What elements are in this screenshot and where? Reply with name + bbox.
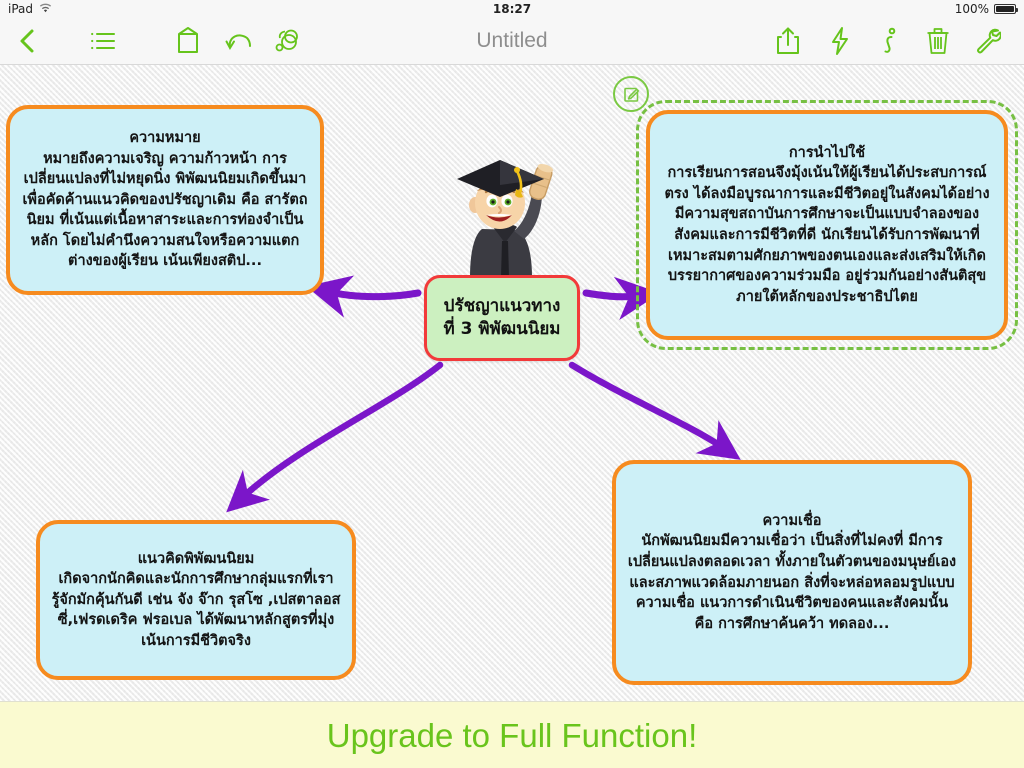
upgrade-banner[interactable]: Upgrade to Full Function! [0,701,1024,768]
mindmap-center-node[interactable]: ปรัชญาแนวทาง ที่ 3 พิพัฒนนิยม [424,275,580,361]
mindmap-canvas[interactable]: ความหมาย หมายถึงความเจริญ ความก้าวหน้า ก… [0,65,1024,701]
upgrade-banner-label: Upgrade to Full Function! [327,717,698,755]
connector-to-belief [572,365,722,447]
graduate-student-icon [448,157,562,283]
theme-button[interactable] [270,26,304,56]
node-body: เกิดจากนักคิดและนักการศึกษากลุ่มแรกที่เร… [50,569,342,651]
connector-to-concept [243,365,440,497]
connector-to-apply [586,293,636,297]
center-node-line1: ปรัชญาแนวทาง [443,295,560,318]
mindmap-node-concept[interactable]: แนวคิดพิพัฒนนิยม เกิดจากนักคิดและนักการศ… [36,520,356,680]
node-title: แนวคิดพิพัฒนนิยม [138,549,255,570]
document-title[interactable]: Untitled [0,18,1024,64]
delete-button[interactable] [921,26,955,56]
edit-pencil-square-icon[interactable] [613,76,649,112]
node-title: ความเชื่อ [762,511,821,532]
mindmap-node-meaning[interactable]: ความหมาย หมายถึงความเจริญ ความก้าวหน้า ก… [6,105,324,295]
node-title: ความหมาย [129,128,200,149]
node-body: หมายถึงความเจริญ ความก้าวหน้า การเปลี่ยน… [20,149,310,272]
export-button[interactable] [171,26,205,56]
connector-to-meaning [330,292,418,297]
back-button[interactable] [10,26,44,56]
node-body: นักพัฒนนิยมมีความเชื่อว่า เป็นสิ่งที่ไม่… [626,531,958,634]
info-button[interactable] [873,26,907,56]
undo-button[interactable] [222,26,256,56]
node-title: การนำไปใช้ [789,143,865,164]
mindmap-app: iPad 18:27 100% Untitled [0,0,1024,768]
outline-button[interactable] [86,26,120,56]
quick-action-button[interactable] [823,26,857,56]
clock-label: 18:27 [0,2,1024,16]
status-bar-right: 100% [955,2,1016,16]
battery-full-icon [994,4,1016,14]
mindmap-node-apply[interactable]: การนำไปใช้ การเรียนการสอนจึงมุ้งเน้นให้ผ… [646,110,1008,340]
node-body: การเรียนการสอนจึงมุ้งเน้นให้ผู้เรียนได้ป… [660,163,994,307]
battery-percent-label: 100% [955,2,989,16]
center-node-text: ปรัชญาแนวทาง ที่ 3 พิพัฒนนิยม [443,295,560,341]
status-bar: iPad 18:27 100% [0,0,1024,18]
share-button[interactable] [771,26,805,56]
center-node-line2: ที่ 3 พิพัฒนนิยม [443,318,560,341]
settings-button[interactable] [971,26,1005,56]
app-toolbar: Untitled [0,18,1024,65]
mindmap-node-belief[interactable]: ความเชื่อ นักพัฒนนิยมมีความเชื่อว่า เป็น… [612,460,972,685]
